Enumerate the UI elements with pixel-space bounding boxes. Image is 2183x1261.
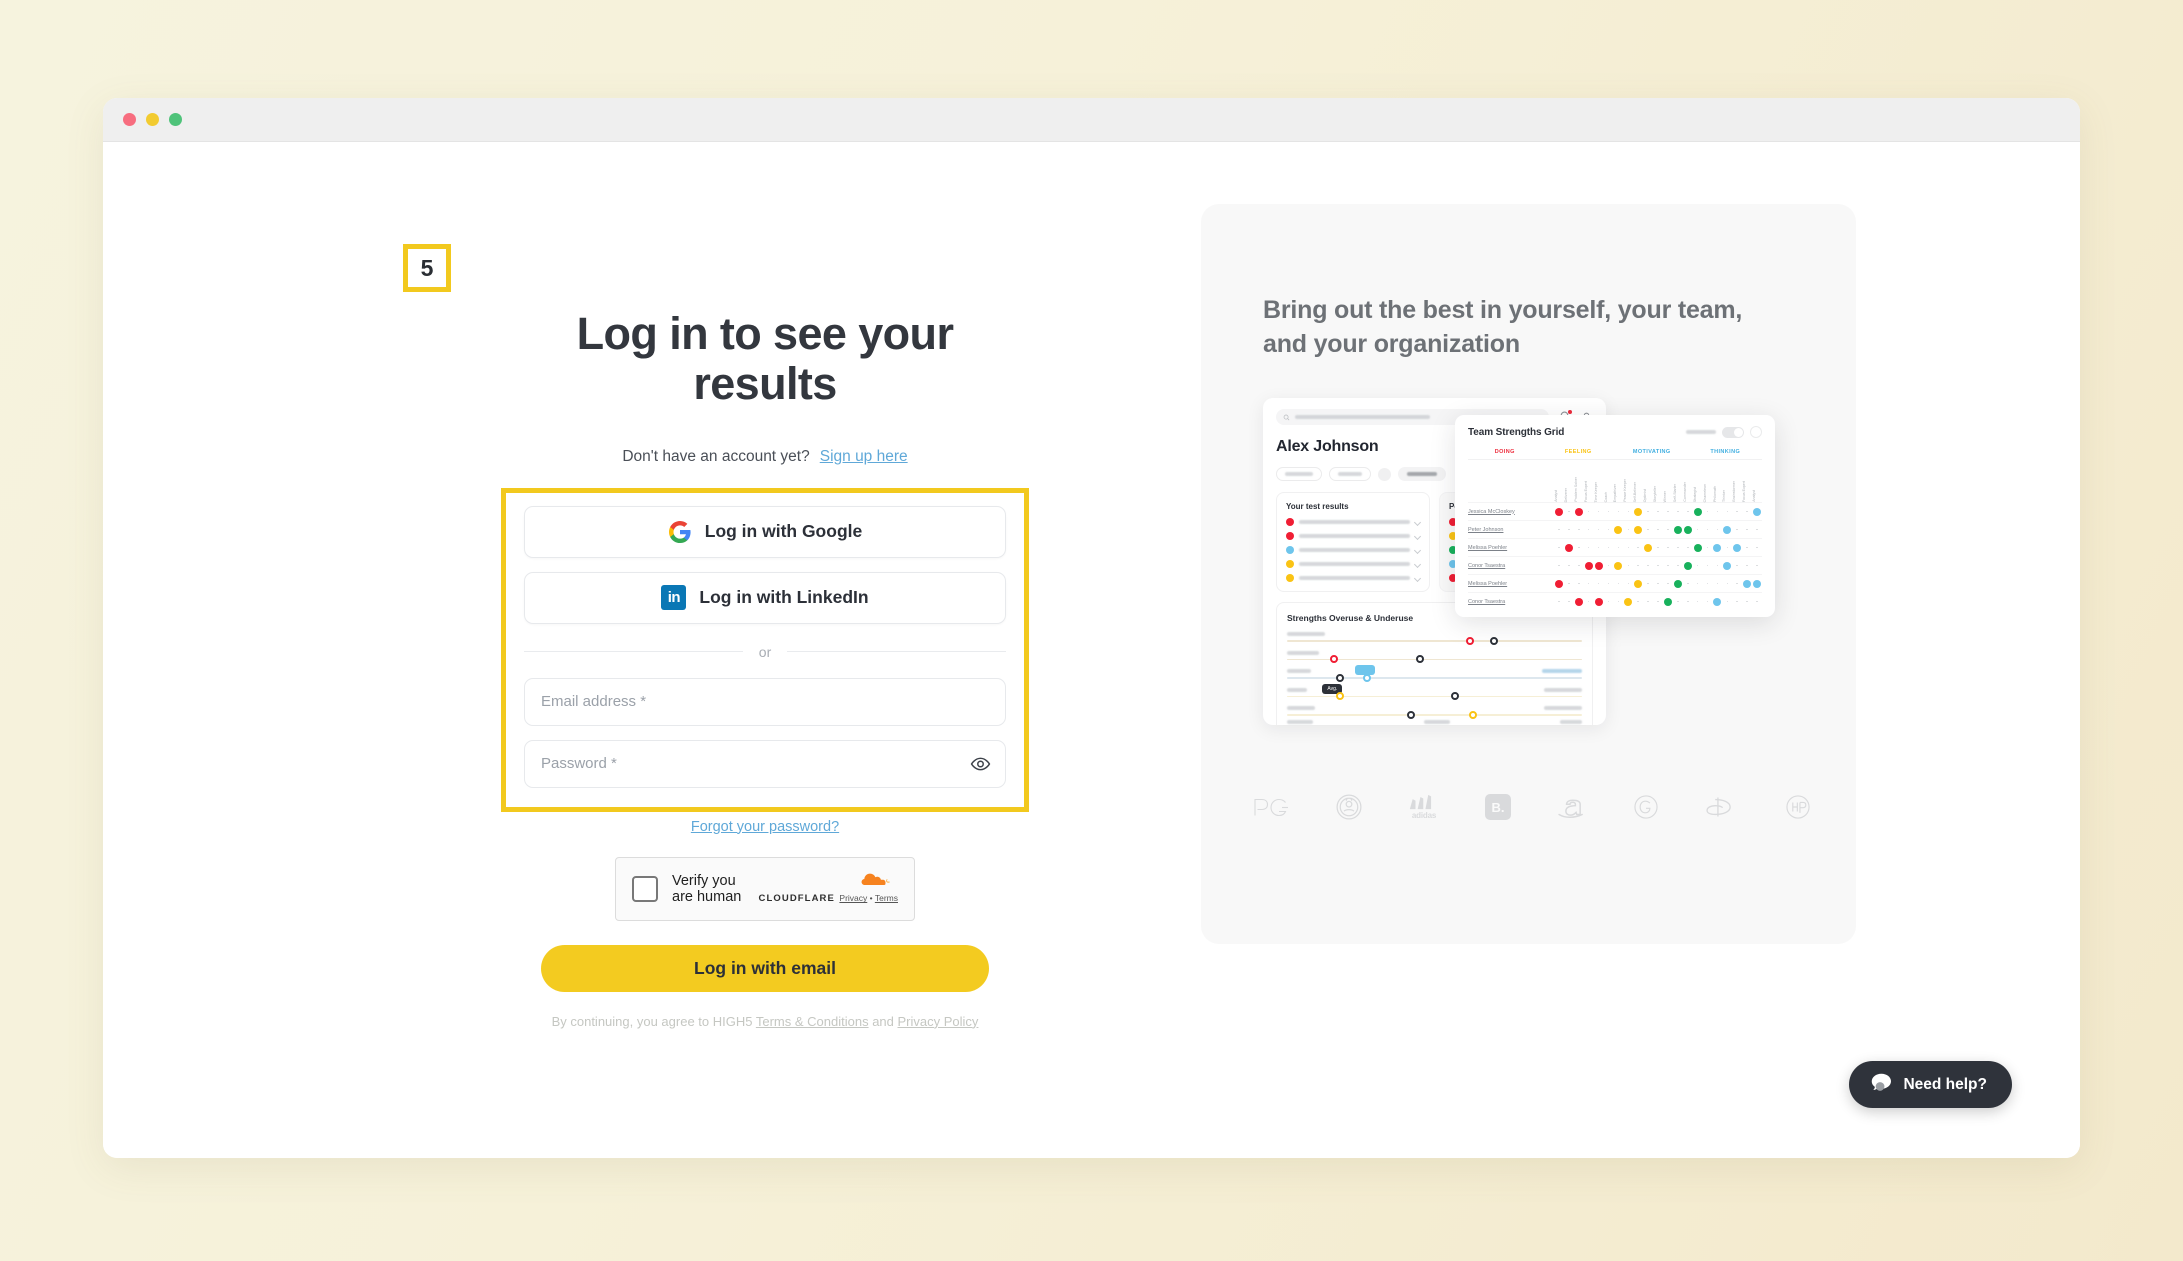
grid-cell-empty — [1746, 547, 1748, 549]
verify-human-checkbox[interactable] — [632, 876, 658, 902]
grid-column-header: Storyteller — [1653, 486, 1663, 502]
grid-cell[interactable] — [1564, 529, 1574, 531]
grid-cell[interactable] — [1683, 601, 1693, 603]
grid-column-header: Strategist — [1693, 487, 1703, 502]
grid-cell[interactable] — [1703, 565, 1713, 567]
grid-cell-empty — [1588, 583, 1590, 585]
signup-prompt-label: Don't have an account yet? — [622, 448, 809, 466]
grid-row-person-name[interactable]: Jessica McCloskey — [1468, 509, 1554, 515]
grid-cell[interactable] — [1653, 601, 1663, 603]
grid-cell[interactable] — [1703, 547, 1713, 549]
pg-logo — [1251, 792, 1291, 822]
overuse-self-marker[interactable] — [1363, 674, 1371, 682]
grid-cell[interactable] — [1673, 511, 1683, 513]
grid-cell-empty — [1578, 583, 1580, 585]
browser-titlebar — [103, 98, 2080, 142]
forgot-password-link[interactable]: Forgot your password? — [691, 819, 839, 835]
grid-cell[interactable] — [1713, 598, 1723, 606]
grid-cell-empty — [1578, 529, 1580, 531]
grid-cell[interactable] — [1693, 508, 1703, 516]
grid-cell[interactable] — [1693, 544, 1703, 552]
grid-cell[interactable] — [1732, 511, 1742, 513]
divider-label: or — [759, 644, 771, 660]
grid-cell[interactable] — [1673, 526, 1683, 534]
grid-cell[interactable] — [1673, 580, 1683, 588]
mock-tab-peer-feedback[interactable] — [1398, 467, 1446, 481]
grid-cell[interactable] — [1584, 601, 1594, 603]
browser-window: 5 Log in to see your results Don't have … — [103, 98, 2080, 1158]
grid-cell[interactable] — [1623, 598, 1633, 606]
grid-settings-toggle[interactable] — [1722, 427, 1744, 438]
linkedin-login-button[interactable]: in Log in with LinkedIn — [524, 572, 1006, 624]
grid-cell[interactable] — [1663, 565, 1673, 567]
grid-cell[interactable] — [1584, 583, 1594, 585]
grid-cell-empty — [1578, 547, 1580, 549]
booking-logo: B. — [1485, 794, 1511, 820]
grid-cell[interactable] — [1633, 565, 1643, 567]
grid-cell[interactable] — [1673, 547, 1683, 549]
grid-cell[interactable] — [1584, 529, 1594, 531]
overuse-self-marker[interactable] — [1330, 655, 1338, 663]
grid-cell[interactable] — [1594, 583, 1604, 585]
cloudflare-link-separator: • — [870, 893, 873, 903]
grid-cell[interactable] — [1604, 547, 1614, 549]
grid-cell-empty — [1717, 511, 1719, 513]
grid-cell[interactable] — [1653, 547, 1663, 549]
chevron-down-icon[interactable] — [1414, 546, 1421, 553]
grid-cell[interactable] — [1643, 544, 1653, 552]
grid-cell[interactable] — [1594, 562, 1604, 570]
grid-row-person-name[interactable]: Melissa Poehler — [1468, 545, 1554, 551]
grid-cell[interactable] — [1613, 547, 1623, 549]
grid-cell[interactable] — [1693, 583, 1703, 585]
grid-cell[interactable] — [1604, 511, 1614, 513]
grid-cell-empty — [1667, 511, 1669, 513]
login-column: Log in to see your results Don't have an… — [455, 142, 1075, 1029]
grid-rows: Jessica McCloskeyPeter JohnsonMelissa Po… — [1468, 502, 1762, 610]
cloudflare-links: Privacy • Terms — [839, 893, 898, 903]
grid-cell[interactable] — [1683, 547, 1693, 549]
grid-cell-empty — [1756, 547, 1758, 549]
window-minimize-dot[interactable] — [146, 113, 159, 126]
grid-cell[interactable] — [1613, 511, 1623, 513]
grid-cell[interactable] — [1643, 511, 1653, 513]
grid-cell[interactable] — [1663, 598, 1673, 606]
grid-cell-empty — [1598, 529, 1600, 531]
test-result-item — [1286, 546, 1420, 554]
grid-row-person-name[interactable]: Peter Johnson — [1468, 527, 1554, 533]
grid-cell[interactable] — [1613, 562, 1623, 570]
grid-cell[interactable] — [1623, 529, 1633, 531]
grid-cell-empty — [1707, 547, 1709, 549]
cloudflare-branding: CF CLOUDFLARE Privacy • Terms — [759, 871, 899, 906]
grid-cell[interactable] — [1594, 529, 1604, 531]
overuse-self-marker[interactable] — [1469, 711, 1477, 719]
page-title: Log in to see your results — [545, 309, 985, 410]
overuse-track[interactable] — [1287, 640, 1582, 642]
grid-cell-empty — [1558, 601, 1560, 603]
chevron-down-icon[interactable] — [1414, 518, 1421, 525]
grid-cell[interactable] — [1752, 565, 1762, 567]
grid-column-header: Self-Believer — [1633, 482, 1643, 502]
grid-cell[interactable] — [1732, 529, 1742, 531]
grid-cell[interactable] — [1713, 583, 1723, 585]
divider-line-right — [787, 651, 1006, 652]
overuse-percent-label — [1542, 669, 1582, 673]
grid-cell[interactable] — [1554, 547, 1564, 549]
grid-row-person-name[interactable]: Conor Tsaestra — [1468, 563, 1554, 569]
overuse-track[interactable] — [1287, 714, 1582, 716]
grid-cell[interactable] — [1604, 583, 1614, 585]
cloudflare-privacy-link[interactable]: Privacy — [839, 893, 867, 903]
grid-cell-empty — [1756, 601, 1758, 603]
grid-cell-marker — [1585, 562, 1593, 570]
grid-cell[interactable] — [1574, 508, 1584, 516]
grid-cell[interactable] — [1683, 583, 1693, 585]
toggle-password-visibility-icon[interactable] — [970, 753, 991, 774]
grid-cell[interactable] — [1742, 529, 1752, 531]
your-test-results-card: Your test results — [1276, 492, 1430, 592]
grid-cell-empty — [1736, 565, 1738, 567]
grid-cell[interactable] — [1633, 508, 1643, 516]
grid-cell-marker — [1694, 544, 1702, 552]
sign-up-link[interactable]: Sign up here — [820, 448, 908, 466]
grid-cell[interactable] — [1752, 601, 1762, 603]
test-result-item — [1286, 574, 1420, 582]
promo-panel: Bring out the best in yourself, your tea… — [1201, 204, 1856, 944]
strength-color-dot — [1286, 546, 1294, 554]
step-badge: 5 — [403, 244, 451, 292]
grid-cell[interactable] — [1643, 583, 1653, 585]
grid-cell[interactable] — [1653, 529, 1663, 531]
grid-cell[interactable] — [1574, 547, 1584, 549]
grid-cell-empty — [1687, 583, 1689, 585]
grid-cell[interactable] — [1742, 601, 1752, 603]
amazon-logo — [1555, 792, 1589, 822]
legal-prefix: By continuing, you agree to HIGH5 — [552, 1014, 756, 1029]
grid-cell-marker — [1555, 508, 1563, 516]
grid-column-header: Time Keeper — [1594, 482, 1604, 502]
grid-column-header: Analyst — [1554, 490, 1564, 502]
grid-column-header: Problem Solver — [1574, 477, 1584, 502]
grid-cell[interactable] — [1663, 529, 1673, 531]
grid-cell[interactable] — [1742, 580, 1752, 588]
grid-cell-marker — [1753, 508, 1761, 516]
grid-cell-marker — [1555, 580, 1563, 588]
grid-cell[interactable] — [1683, 526, 1693, 534]
grid-cell[interactable] — [1613, 601, 1623, 603]
grid-cell[interactable] — [1623, 547, 1633, 549]
overuse-axis-underuse — [1287, 720, 1313, 724]
grid-cell[interactable] — [1623, 583, 1633, 585]
grid-cell[interactable] — [1683, 562, 1693, 570]
adidas-wordmark: adidas — [1412, 811, 1436, 820]
grid-cell-empty — [1657, 583, 1659, 585]
grid-cell[interactable] — [1584, 562, 1594, 570]
grid-cell[interactable] — [1584, 547, 1594, 549]
grid-column-header: Thinker — [1722, 490, 1732, 502]
overuse-avg-marker[interactable] — [1416, 655, 1424, 663]
grid-cell-empty — [1727, 583, 1729, 585]
grid-cell[interactable] — [1574, 598, 1584, 606]
test-result-label — [1299, 534, 1410, 538]
grid-cell-empty — [1647, 511, 1649, 513]
grid-cell-marker — [1575, 598, 1583, 606]
overuse-avg-marker[interactable] — [1451, 692, 1459, 700]
grid-cell-marker — [1743, 580, 1751, 588]
overuse-axis-overuse — [1560, 720, 1582, 724]
grid-cell[interactable] — [1554, 565, 1564, 567]
grid-cell[interactable] — [1722, 562, 1732, 570]
your-test-results-title: Your test results — [1286, 502, 1420, 511]
grid-cell[interactable] — [1732, 601, 1742, 603]
overuse-row-label — [1287, 651, 1319, 655]
grid-cell[interactable] — [1564, 544, 1574, 552]
cloudflare-terms-link[interactable]: Terms — [875, 893, 898, 903]
overuse-track[interactable]: Avg. — [1287, 677, 1582, 679]
need-help-label: Need help? — [1903, 1076, 1987, 1094]
grid-cell[interactable] — [1732, 544, 1742, 552]
grid-cell[interactable] — [1703, 601, 1713, 603]
overuse-self-marker[interactable] — [1466, 637, 1474, 645]
need-help-button[interactable]: Need help? — [1849, 1061, 2012, 1108]
grid-cell-empty — [1667, 529, 1669, 531]
overuse-track[interactable] — [1287, 696, 1582, 698]
team-strengths-grid-card: Team Strengths Grid DOING FEELING MOTIVA… — [1455, 415, 1775, 617]
grid-cell-empty — [1717, 565, 1719, 567]
grid-row-person-name[interactable]: Conor Tsaestra — [1468, 599, 1554, 605]
overuse-row — [1287, 632, 1582, 642]
grid-cell-empty — [1657, 565, 1659, 567]
grid-cell-empty — [1707, 565, 1709, 567]
grid-cell-marker — [1595, 562, 1603, 570]
grid-cell[interactable] — [1643, 601, 1653, 603]
grid-cell-marker — [1674, 580, 1682, 588]
chevron-down-icon[interactable] — [1414, 574, 1421, 581]
grid-cell[interactable] — [1594, 511, 1604, 513]
grid-cell[interactable] — [1554, 601, 1564, 603]
grid-column-header: Analyst — [1752, 490, 1762, 502]
grid-cell[interactable] — [1673, 601, 1683, 603]
chevron-down-icon[interactable] — [1414, 560, 1421, 567]
login-with-email-button[interactable]: Log in with email — [541, 945, 989, 992]
grid-cell[interactable] — [1703, 529, 1713, 531]
grid-cell-empty — [1677, 565, 1679, 567]
grid-cell[interactable] — [1564, 583, 1574, 585]
grid-cell[interactable] — [1703, 583, 1713, 585]
grid-cell[interactable] — [1653, 511, 1663, 513]
grid-cell[interactable] — [1643, 565, 1653, 567]
grid-cell[interactable] — [1574, 529, 1584, 531]
mock-tab-dashboard[interactable] — [1276, 467, 1322, 481]
overuse-row-label — [1287, 669, 1311, 673]
grid-cell[interactable] — [1673, 565, 1683, 567]
overuse-row-label — [1287, 688, 1307, 692]
grid-cell[interactable] — [1564, 565, 1574, 567]
grid-cell[interactable] — [1693, 529, 1703, 531]
grid-cell[interactable] — [1742, 511, 1752, 513]
chevron-down-icon[interactable] — [1414, 532, 1421, 539]
grid-cell[interactable] — [1713, 511, 1723, 513]
cloudflare-cloud-icon: CF — [854, 871, 898, 888]
grid-cell[interactable] — [1722, 511, 1732, 513]
test-result-label — [1299, 548, 1410, 552]
grid-cell[interactable] — [1613, 583, 1623, 585]
grid-column-header: Winner — [1663, 491, 1673, 502]
grid-cell[interactable] — [1594, 598, 1604, 606]
or-divider: or — [524, 644, 1006, 660]
grid-row-person-name[interactable]: Melissa Poehler — [1468, 581, 1554, 587]
grid-column-header: Chameleon — [1703, 484, 1713, 502]
grid-row-cells — [1554, 526, 1762, 534]
grid-cell[interactable] — [1633, 547, 1643, 549]
overuse-avg-marker[interactable] — [1336, 674, 1344, 682]
overuse-avg-marker[interactable] — [1407, 711, 1415, 719]
grid-group-motivating: MOTIVATING — [1615, 449, 1689, 455]
grid-cell[interactable] — [1722, 526, 1732, 534]
grid-cell-empty — [1657, 529, 1659, 531]
grid-cell-empty — [1727, 511, 1729, 513]
password-input[interactable] — [541, 755, 989, 772]
grid-cell[interactable] — [1623, 565, 1633, 567]
grid-cell-empty — [1746, 511, 1748, 513]
grid-cell[interactable] — [1613, 526, 1623, 534]
grid-cell[interactable] — [1604, 601, 1614, 603]
grid-header: Team Strengths Grid — [1468, 426, 1762, 438]
grid-cell-empty — [1657, 601, 1659, 603]
customer-logos: adidas B. — [1251, 792, 1811, 822]
grid-cell-empty — [1618, 547, 1620, 549]
grid-cell-marker — [1565, 544, 1573, 552]
signup-row: Don't have an account yet? Sign up here — [622, 448, 907, 466]
grid-cell[interactable] — [1722, 601, 1732, 603]
grid-cell[interactable] — [1693, 601, 1703, 603]
grid-cell[interactable] — [1633, 580, 1643, 588]
grid-cell-empty — [1628, 565, 1630, 567]
grid-cell[interactable] — [1752, 508, 1762, 516]
disney-logo — [1703, 792, 1741, 822]
grid-cell[interactable] — [1554, 580, 1564, 588]
grid-cell[interactable] — [1722, 583, 1732, 585]
password-field-wrapper[interactable] — [524, 740, 1006, 788]
grid-cell[interactable] — [1663, 511, 1673, 513]
grid-cell[interactable] — [1653, 583, 1663, 585]
overuse-track[interactable] — [1287, 659, 1582, 661]
grid-cell-empty — [1568, 511, 1570, 513]
grid-column-header: Peace Keeper — [1623, 479, 1633, 502]
grid-cell-empty — [1697, 565, 1699, 567]
grid-cell-empty — [1756, 529, 1758, 531]
grid-cell[interactable] — [1693, 565, 1703, 567]
test-result-item — [1286, 560, 1420, 568]
grid-cell[interactable] — [1554, 529, 1564, 531]
privacy-policy-link[interactable]: Privacy Policy — [898, 1014, 979, 1029]
window-maximize-dot[interactable] — [169, 113, 182, 126]
grid-cell[interactable] — [1732, 583, 1742, 585]
grid-cell[interactable] — [1594, 547, 1604, 549]
grid-cell-empty — [1667, 583, 1669, 585]
grid-row-cells — [1554, 508, 1762, 516]
grid-cell[interactable] — [1643, 529, 1653, 531]
grid-cell[interactable] — [1623, 511, 1633, 513]
grid-cell[interactable] — [1732, 565, 1742, 567]
grid-title: Team Strengths Grid — [1468, 427, 1564, 438]
grid-column-header: Focus Expert — [1742, 481, 1752, 502]
overuse-self-marker[interactable] — [1336, 692, 1344, 700]
terms-conditions-link[interactable]: Terms & Conditions — [756, 1014, 869, 1029]
grid-cell[interactable] — [1604, 565, 1614, 567]
grid-cell-empty — [1736, 601, 1738, 603]
overuse-avg-marker[interactable] — [1490, 637, 1498, 645]
email-field-wrapper[interactable] — [524, 678, 1006, 726]
grid-cell[interactable] — [1713, 544, 1723, 552]
grid-cell[interactable] — [1633, 601, 1643, 603]
grid-cell-marker — [1694, 508, 1702, 516]
grid-cell[interactable] — [1633, 526, 1643, 534]
grid-column-header: Focus Expert — [1584, 481, 1594, 502]
grid-row: Melissa Poehler — [1468, 538, 1762, 556]
google-icon — [668, 520, 692, 544]
grid-cell[interactable] — [1574, 565, 1584, 567]
grid-cell[interactable] — [1604, 529, 1614, 531]
grid-cell-empty — [1736, 583, 1738, 585]
grid-cell[interactable] — [1663, 547, 1673, 549]
grid-cell[interactable] — [1564, 511, 1574, 513]
email-input[interactable] — [541, 693, 989, 710]
grid-cell[interactable] — [1703, 511, 1713, 513]
mock-tab-extra-dot[interactable] — [1378, 468, 1391, 481]
grid-cell[interactable] — [1554, 508, 1564, 516]
grid-more-button[interactable] — [1750, 426, 1762, 438]
grid-group-thinking: THINKING — [1689, 449, 1763, 455]
grid-cell[interactable] — [1683, 511, 1693, 513]
mock-tab-dashboard-label — [1285, 472, 1313, 476]
grid-cell[interactable] — [1713, 529, 1723, 531]
grid-cell[interactable] — [1663, 583, 1673, 585]
grid-cell-empty — [1667, 565, 1669, 567]
grid-cell-empty — [1736, 511, 1738, 513]
grid-cell[interactable] — [1584, 511, 1594, 513]
window-close-dot[interactable] — [123, 113, 136, 126]
grid-group-feeling: FEELING — [1542, 449, 1616, 455]
grid-column-header: Optimist — [1643, 489, 1653, 502]
grid-cell-empty — [1717, 583, 1719, 585]
grid-cell-empty — [1707, 583, 1709, 585]
grid-cell[interactable] — [1653, 565, 1663, 567]
grid-cell[interactable] — [1742, 547, 1752, 549]
mock-tab-full-profile[interactable] — [1329, 467, 1371, 481]
grid-cell[interactable] — [1752, 547, 1762, 549]
grid-cell[interactable] — [1722, 547, 1732, 549]
google-login-label: Log in with Google — [705, 521, 862, 542]
grid-cell-empty — [1677, 511, 1679, 513]
cloudflare-wordmark: CLOUDFLARE — [759, 893, 835, 904]
overuse-row-label — [1287, 706, 1315, 710]
grid-column-header: Philomath — [1713, 486, 1723, 502]
grid-cell[interactable] — [1574, 583, 1584, 585]
grid-cell[interactable] — [1742, 565, 1752, 567]
grid-cell[interactable] — [1752, 529, 1762, 531]
grid-cell-empty — [1628, 511, 1630, 513]
grid-cell[interactable] — [1752, 580, 1762, 588]
grid-cell[interactable] — [1713, 565, 1723, 567]
notification-badge — [1568, 410, 1572, 414]
grid-cell-empty — [1588, 547, 1590, 549]
grid-column-header: Self-Starter — [1673, 484, 1683, 502]
toggle-knob — [1734, 428, 1743, 437]
google-login-button[interactable]: Log in with Google — [524, 506, 1006, 558]
grid-cell[interactable] — [1564, 601, 1574, 603]
